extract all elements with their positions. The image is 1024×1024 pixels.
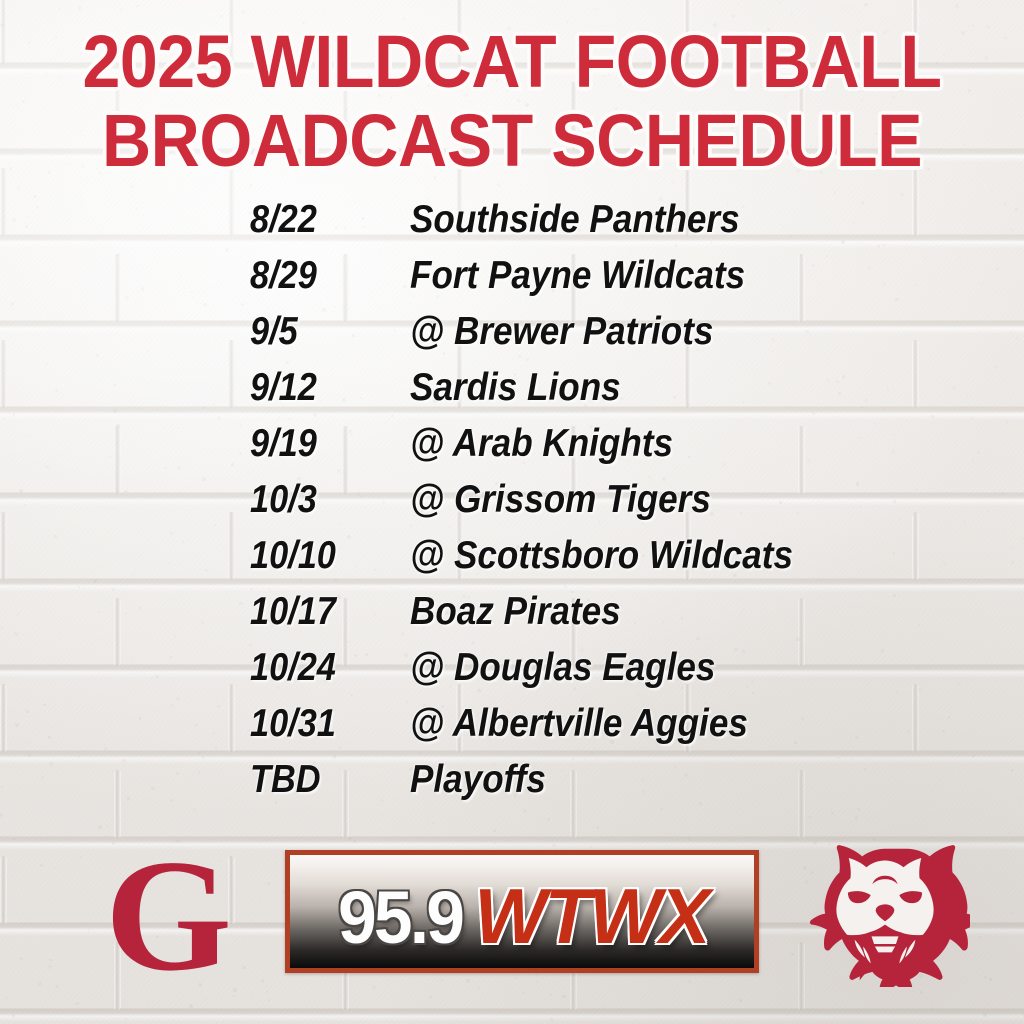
schedule-date: TBD [250, 752, 321, 808]
schedule-opponent: @ Albertville Aggies [410, 696, 748, 752]
schedule-date: 9/19 [250, 416, 317, 472]
schedule-row: 9/5@ Brewer Patriots [0, 304, 1024, 360]
broadcast-schedule-list: 8/22Southside Panthers8/29Fort Payne Wil… [0, 192, 1024, 808]
schedule-date: 10/24 [250, 640, 336, 696]
schedule-row: 9/19@ Arab Knights [0, 416, 1024, 472]
poster-canvas: 2025 WILDCAT FOOTBALL BROADCAST SCHEDULE… [0, 0, 1024, 1024]
schedule-row: 8/29Fort Payne Wildcats [0, 248, 1024, 304]
schedule-date: 10/17 [250, 584, 336, 640]
schedule-row: 10/3@ Grissom Tigers [0, 472, 1024, 528]
schedule-date: 9/12 [250, 360, 317, 416]
schedule-date: 8/22 [250, 192, 317, 248]
schedule-row: 8/22Southside Panthers [0, 192, 1024, 248]
schedule-date: 9/5 [250, 304, 298, 360]
schedule-opponent: Boaz Pirates [410, 584, 621, 640]
schedule-opponent: @ Arab Knights [410, 416, 673, 472]
schedule-date: 10/31 [250, 696, 336, 752]
logo-row: G 95.9 WTWX [0, 838, 1024, 998]
poster-title: 2025 WILDCAT FOOTBALL BROADCAST SCHEDULE [0, 26, 1024, 177]
schedule-opponent: Fort Payne Wildcats [410, 248, 745, 304]
schedule-opponent: Playoffs [410, 752, 546, 808]
schedule-opponent: @ Douglas Eagles [410, 640, 715, 696]
schedule-row: 10/31@ Albertville Aggies [0, 696, 1024, 752]
wildcat-mascot-logo [800, 842, 970, 987]
schedule-row: 9/12Sardis Lions [0, 360, 1024, 416]
schedule-row: TBDPlayoffs [0, 752, 1024, 808]
g-monogram-logo: G [106, 850, 210, 980]
schedule-row: 10/10@ Scottsboro Wildcats [0, 528, 1024, 584]
schedule-opponent: @ Brewer Patriots [410, 304, 713, 360]
schedule-row: 10/24@ Douglas Eagles [0, 640, 1024, 696]
schedule-opponent: @ Grissom Tigers [410, 472, 711, 528]
g-monogram-letter: G [105, 850, 211, 980]
title-line-1: 2025 WILDCAT FOOTBALL [41, 26, 983, 99]
title-line-2: BROADCAST SCHEDULE [41, 105, 983, 178]
schedule-opponent: @ Scottsboro Wildcats [410, 528, 793, 584]
radio-callsign-text: WTWX [474, 877, 708, 955]
schedule-opponent: Southside Panthers [410, 192, 740, 248]
schedule-date: 10/10 [250, 528, 336, 584]
schedule-row: 10/17Boaz Pirates [0, 584, 1024, 640]
schedule-opponent: Sardis Lions [410, 360, 621, 416]
radio-frequency-text: 95.9 [337, 881, 461, 955]
wtwx-radio-logo: 95.9 WTWX [285, 850, 759, 973]
schedule-date: 10/3 [250, 472, 317, 528]
wtwx-logo-text: 95.9 WTWX [334, 877, 711, 955]
schedule-date: 8/29 [250, 248, 317, 304]
